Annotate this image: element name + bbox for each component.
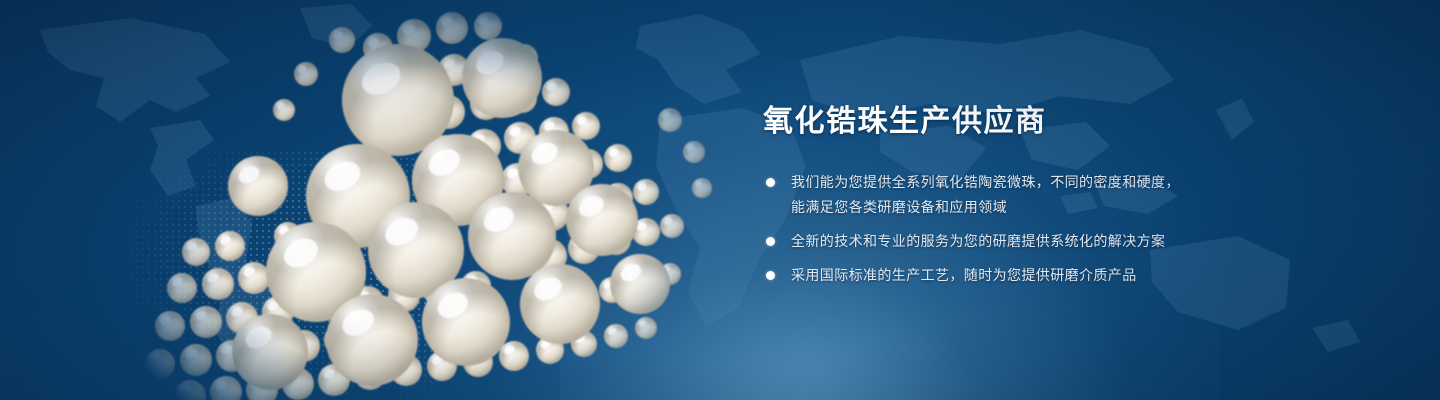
list-item: 我们能为您提供全系列氧化锆陶瓷微珠，不同的密度和硬度， 能满足您各类研磨设备和应… xyxy=(763,170,1363,220)
feature-text-line1: 我们能为您提供全系列氧化锆陶瓷微珠，不同的密度和硬度， xyxy=(791,174,1180,190)
feature-text-line1: 采用国际标准的生产工艺，随时为您提供研磨介质产品 xyxy=(791,267,1137,283)
feature-text-line1: 全新的技术和专业的服务为您的研磨提供系统化的解决方案 xyxy=(791,233,1165,249)
bullet-dot-icon xyxy=(766,271,775,280)
feature-list: 我们能为您提供全系列氧化锆陶瓷微珠，不同的密度和硬度， 能满足您各类研磨设备和应… xyxy=(763,170,1363,288)
feature-text-line2: 能满足您各类研磨设备和应用领域 xyxy=(791,195,1363,220)
bullet-dot-icon xyxy=(766,178,775,187)
page-title: 氧化锆珠生产供应商 xyxy=(763,104,1363,140)
list-item: 全新的技术和专业的服务为您的研磨提供系统化的解决方案 xyxy=(763,229,1363,254)
bullet-dot-icon xyxy=(766,237,775,246)
hero-banner: 氧化锆珠生产供应商 我们能为您提供全系列氧化锆陶瓷微珠，不同的密度和硬度， 能满… xyxy=(0,0,1440,400)
banner-content: 氧化锆珠生产供应商 我们能为您提供全系列氧化锆陶瓷微珠，不同的密度和硬度， 能满… xyxy=(763,104,1363,288)
list-item: 采用国际标准的生产工艺，随时为您提供研磨介质产品 xyxy=(763,263,1363,288)
